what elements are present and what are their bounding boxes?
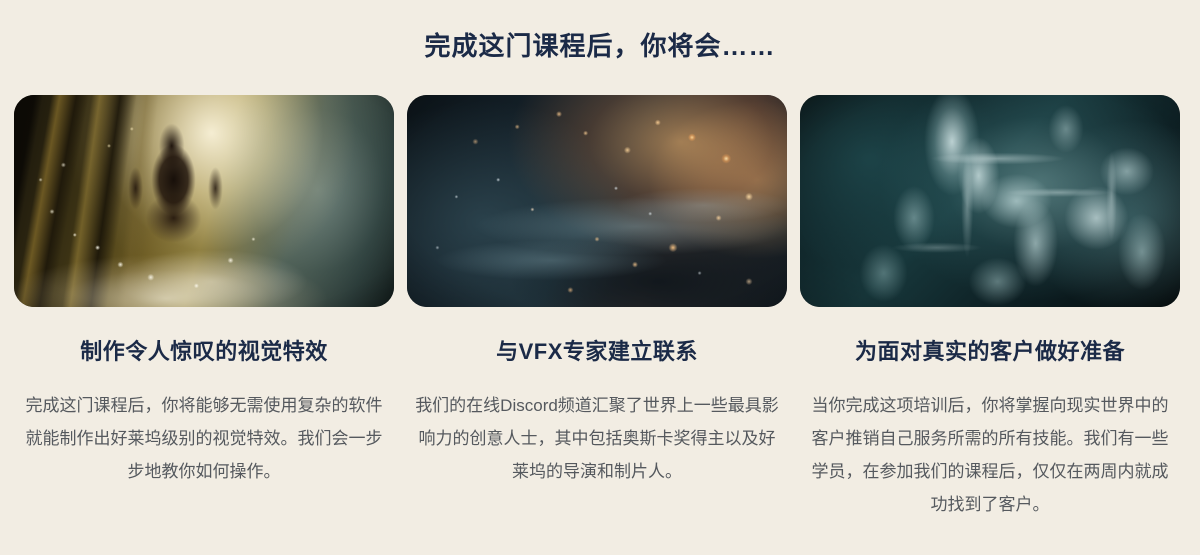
promo-section: 完成这门课程后，你将会…… 制作令人惊叹的视觉特效 完成这门课程后，你将能够无需… xyxy=(0,0,1200,555)
card-body-text: 当你完成这项培训后，你将掌握向现实世界中的客户推销自己服务所需的所有技能。我们有… xyxy=(805,389,1175,521)
card-thumbnail-runner-through-water-golden-light xyxy=(14,95,394,307)
section-heading: 完成这门课程后，你将会…… xyxy=(0,29,1200,63)
benefit-card-list: 制作令人惊叹的视觉特效 完成这门课程后，你将能够无需使用复杂的软件就能制作出好莱… xyxy=(14,95,1186,521)
thumbnail-vignette-layer xyxy=(14,95,394,307)
benefit-card: 制作令人惊叹的视觉特效 完成这门课程后，你将能够无需使用复杂的软件就能制作出好莱… xyxy=(14,95,394,521)
thumbnail-vignette-layer xyxy=(800,95,1180,307)
card-body-text: 我们的在线Discord频道汇聚了世界上一些最具影响力的创意人士，其中包括奥斯卡… xyxy=(412,389,782,488)
card-title: 与VFX专家建立联系 xyxy=(496,338,698,366)
thumbnail-vignette-layer xyxy=(407,95,787,307)
card-body-text: 完成这门课程后，你将能够无需使用复杂的软件就能制作出好莱坞级别的视觉特效。我们会… xyxy=(19,389,389,488)
card-title: 制作令人惊叹的视觉特效 xyxy=(80,338,328,366)
benefit-card: 与VFX专家建立联系 我们的在线Discord频道汇聚了世界上一些最具影响力的创… xyxy=(407,95,787,521)
card-thumbnail-embers-sparks-over-dark-water xyxy=(407,95,787,307)
card-title: 为面对真实的客户做好准备 xyxy=(855,338,1125,366)
card-thumbnail-teal-smoke-swirls xyxy=(800,95,1180,307)
benefit-card: 为面对真实的客户做好准备 当你完成这项培训后，你将掌握向现实世界中的客户推销自己… xyxy=(800,95,1180,521)
